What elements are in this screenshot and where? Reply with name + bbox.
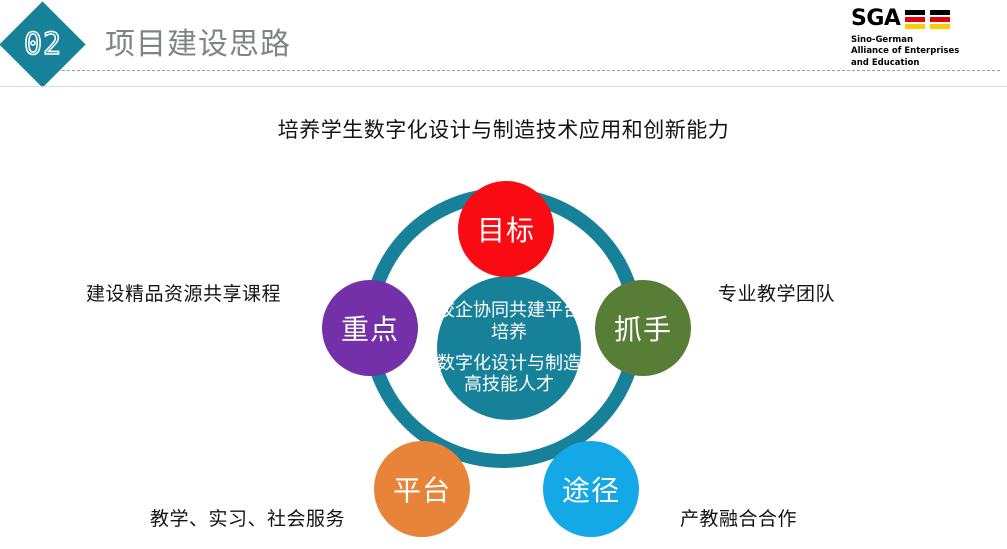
diagram-hub: 校企协同共建平台培养 数字化设计与制造高技能人才: [437, 276, 581, 420]
diagram-top-caption: 培养学生数字化设计与制造技术应用和创新能力: [0, 114, 1007, 144]
sga-logo: SGA Sino-German Alliance of Enterprises …: [851, 8, 991, 69]
node-focus[interactable]: 重点: [322, 280, 418, 376]
side-label-right-mid: 专业教学团队: [718, 279, 835, 306]
page-title: 项目建设思路: [105, 19, 291, 63]
logo-subtitle-line-2: Alliance of Enterprises: [851, 46, 991, 57]
cycle-diagram: 培养学生数字化设计与制造技术应用和创新能力 校企协同共建平台培养 数字化设计与制…: [0, 86, 1007, 549]
slide-root: 02 项目建设思路 SGA Sino-German Alliance of En…: [0, 0, 1007, 549]
node-target-label: 目标: [477, 209, 535, 249]
hub-line-2: 数字化设计与制造高技能人才: [437, 353, 581, 397]
hub-line-1: 校企协同共建平台培养: [437, 300, 581, 344]
side-label-right-bottom: 产教融合合作: [680, 504, 797, 531]
logo-wordmark: SGA: [851, 8, 900, 30]
logo-subtitle-line-1: Sino-German: [851, 35, 991, 46]
header-dashed-divider: [62, 70, 1000, 71]
node-path-label: 途径: [562, 469, 620, 509]
german-flag-icon: [905, 10, 925, 29]
node-handle-label: 抓手: [614, 308, 672, 348]
section-number-label: 02: [12, 13, 74, 75]
node-path[interactable]: 途径: [543, 441, 639, 537]
node-focus-label: 重点: [341, 308, 399, 348]
node-platform[interactable]: 平台: [374, 441, 470, 537]
side-label-left-bottom: 教学、实习、社会服务: [150, 504, 345, 531]
node-platform-label: 平台: [393, 469, 451, 509]
side-label-left-mid: 建设精品资源共享课程: [86, 279, 281, 306]
german-flag-icon-2: [930, 10, 950, 29]
logo-top-row: SGA: [851, 8, 991, 30]
logo-subtitle: Sino-German Alliance of Enterprises and …: [851, 35, 991, 69]
logo-subtitle-line-3: and Education: [851, 58, 991, 69]
node-handle[interactable]: 抓手: [595, 280, 691, 376]
node-target[interactable]: 目标: [458, 181, 554, 277]
